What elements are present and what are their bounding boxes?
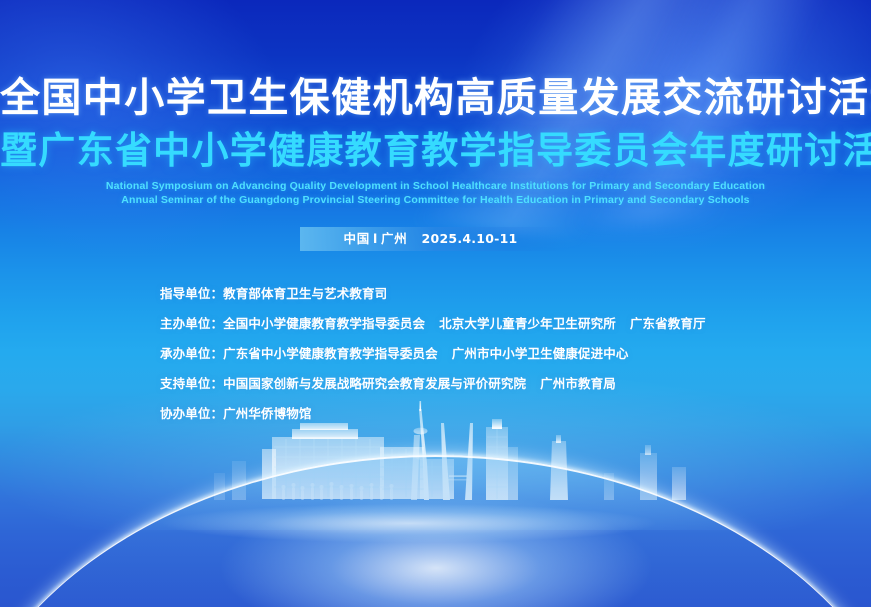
org-value-1-1: 北京大学儿童青少年卫生研究所 [439,316,616,331]
subtitle-english-line2: Annual Seminar of the Guangdong Provinci… [0,194,871,206]
org-label-4: 协办单位： [160,406,223,421]
badge-date: 2025.4.10-11 [422,231,518,246]
org-value-2-1: 广州市中小学卫生健康促进中心 [452,346,629,361]
subtitle-english-line1: National Symposium on Advancing Quality … [0,180,871,192]
event-info-badge-row: 中国l广州2025.4.10-11 [0,227,871,251]
org-values-2: 广东省中小学健康教育教学指导委员会广州市中小学卫生健康促进中心 [223,346,628,361]
org-label-3: 支持单位： [160,376,223,391]
poster-content: 全国中小学卫生保健机构高质量发展交流研讨活动 暨广东省中小学健康教育教学指导委员… [0,0,871,607]
badge-separator: l [370,231,381,246]
org-label-2: 承办单位： [160,346,223,361]
org-value-0-0: 教育部体育卫生与艺术教育司 [223,286,387,301]
page-title-secondary: 暨广东省中小学健康教育教学指导委员会年度研讨活动 [0,130,871,172]
org-value-1-0: 全国中小学健康教育教学指导委员会 [223,316,425,331]
event-info-badge-text: 中国l广州2025.4.10-11 [0,227,871,251]
org-label-0: 指导单位： [160,286,223,301]
org-line-4: 协办单位：广州华侨博物馆 [160,407,820,421]
org-values-1: 全国中小学健康教育教学指导委员会北京大学儿童青少年卫生研究所广东省教育厅 [223,316,706,331]
org-value-3-1: 广州市教育局 [540,376,616,391]
org-value-4-0: 广州华侨博物馆 [223,406,311,421]
conference-poster: 全国中小学卫生保健机构高质量发展交流研讨活动 暨广东省中小学健康教育教学指导委员… [0,0,871,607]
org-line-0: 指导单位：教育部体育卫生与艺术教育司 [160,287,820,301]
organization-list: 指导单位：教育部体育卫生与艺术教育司 主办单位：全国中小学健康教育教学指导委员会… [160,287,820,437]
badge-country: 中国 [343,231,370,246]
page-title-primary: 全国中小学卫生保健机构高质量发展交流研讨活动 [0,75,871,121]
org-line-2: 承办单位：广东省中小学健康教育教学指导委员会广州市中小学卫生健康促进中心 [160,347,820,361]
org-line-1: 主办单位：全国中小学健康教育教学指导委员会北京大学儿童青少年卫生研究所广东省教育… [160,317,820,331]
org-values-3: 中国国家创新与发展战略研究会教育发展与评价研究院广州市教育局 [223,376,616,391]
org-line-3: 支持单位：中国国家创新与发展战略研究会教育发展与评价研究院广州市教育局 [160,377,820,391]
org-value-1-2: 广东省教育厅 [630,316,706,331]
org-value-3-0: 中国国家创新与发展战略研究会教育发展与评价研究院 [223,376,526,391]
badge-city: 广州 [381,231,408,246]
org-label-1: 主办单位： [160,316,223,331]
org-values-4: 广州华侨博物馆 [223,406,311,421]
org-value-2-0: 广东省中小学健康教育教学指导委员会 [223,346,438,361]
org-values-0: 教育部体育卫生与艺术教育司 [223,286,387,301]
